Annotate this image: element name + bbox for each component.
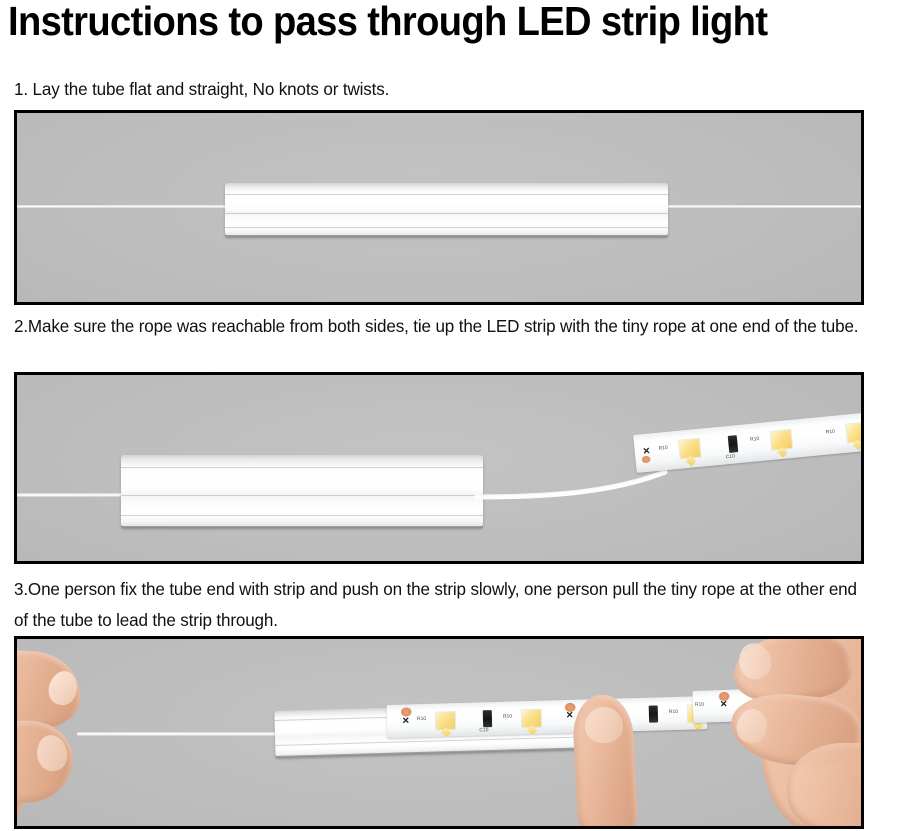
step-1-figure [14,110,864,305]
strip-silk-label: R10 [750,437,760,443]
strip-silk-label: R10 [695,703,704,708]
step-3-figure: ✕ R10 C10 R10 ✕ C10 R10 ✕ R10 [14,636,864,829]
led-chip [435,711,457,731]
strip-silk-label: R10 [503,715,512,720]
led-diffuser-tube [225,183,668,236]
led-chip [521,709,543,729]
strip-polarity-mark: ✕ [402,716,410,725]
strip-silk-label: R10 [658,446,668,452]
strip-silk-label: C10 [726,454,736,460]
led-chip [845,422,864,444]
strip-silk-label: R10 [417,717,426,722]
step-2-figure: ✕ R10 C10 R10 R10 [14,372,864,564]
right-hand-holding-strip [717,636,864,829]
tube-ridge [225,194,668,195]
step-3-caption: 3.One person fix the tube end with strip… [14,574,868,636]
strip-resistor [483,710,492,727]
tube-ridge [121,495,483,496]
tiny-rope-over-tube [225,205,668,207]
tiny-rope-left [15,493,131,497]
tiny-rope [77,732,292,736]
tube-ridge [121,467,483,468]
led-chip [678,438,702,460]
solder-pad [641,456,651,464]
pointing-finger-hand [557,693,687,829]
led-diffuser-tube [121,455,483,527]
led-chip [769,429,793,451]
page-title: Instructions to pass through LED strip l… [8,0,830,44]
pointing-fingernail [585,707,623,743]
strip-silk-label: R10 [826,430,836,436]
strip-silk-label: C10 [479,728,488,733]
step-1-caption: 1. Lay the tube flat and straight, No kn… [14,74,872,105]
tube-ridge [225,213,668,214]
tube-ridge [121,515,483,516]
step-2-caption: 2.Make sure the rope was reachable from … [14,311,860,342]
strip-polarity-mark: ✕ [642,447,650,457]
strip-resistor [728,435,739,453]
tube-ridge [225,227,668,228]
